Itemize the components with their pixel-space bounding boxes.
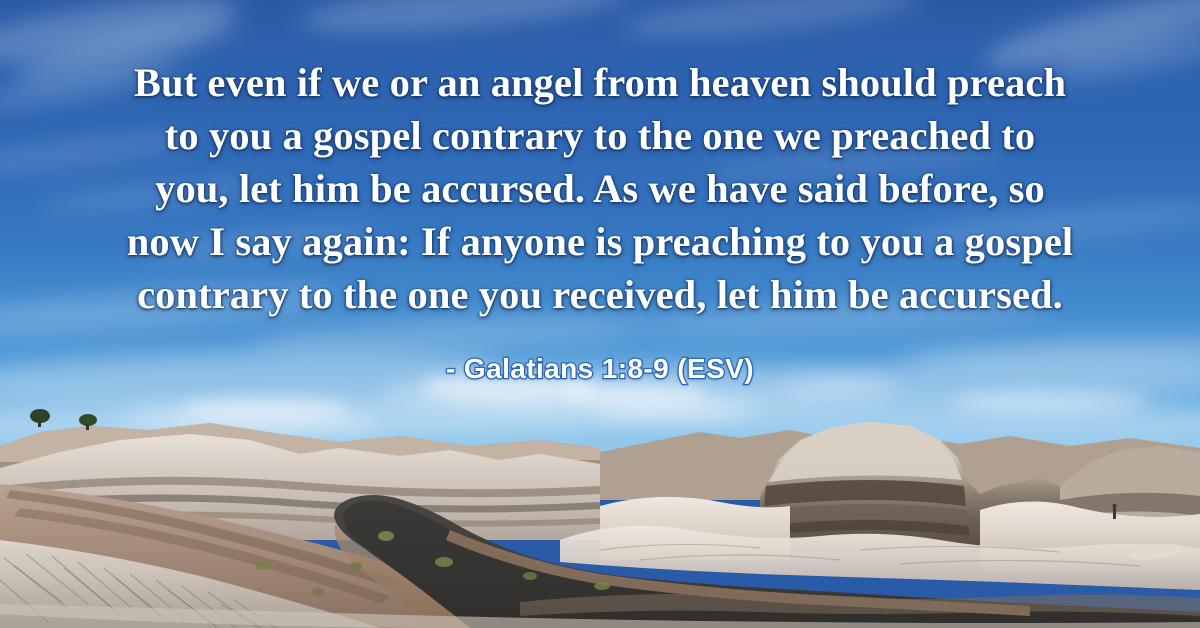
- ridge-top-bushes: [30, 409, 97, 430]
- butte-strata: [760, 480, 970, 536]
- verse-line: now I say again: If anyone is preaching …: [28, 215, 1172, 268]
- hiker-silhouette: [1113, 504, 1117, 519]
- verse-text-block: But even if we or an angel from heaven s…: [0, 56, 1200, 321]
- verse-line: to you a gospel contrary to the one we p…: [28, 109, 1172, 162]
- verse-line: But even if we or an angel from heaven s…: [28, 56, 1172, 109]
- verse-line: contrary to the one you received, let hi…: [28, 268, 1172, 321]
- landscape-illustration: [0, 390, 1200, 628]
- attribution-block: - Galatians 1:8-9 (ESV): [0, 352, 1200, 386]
- verse-line: you, let him be accursed. As we have sai…: [28, 162, 1172, 215]
- badlands-landscape: [0, 390, 1200, 628]
- scripture-image: But even if we or an angel from heaven s…: [0, 0, 1200, 628]
- scripture-reference: - Galatians 1:8-9 (ESV): [446, 352, 754, 386]
